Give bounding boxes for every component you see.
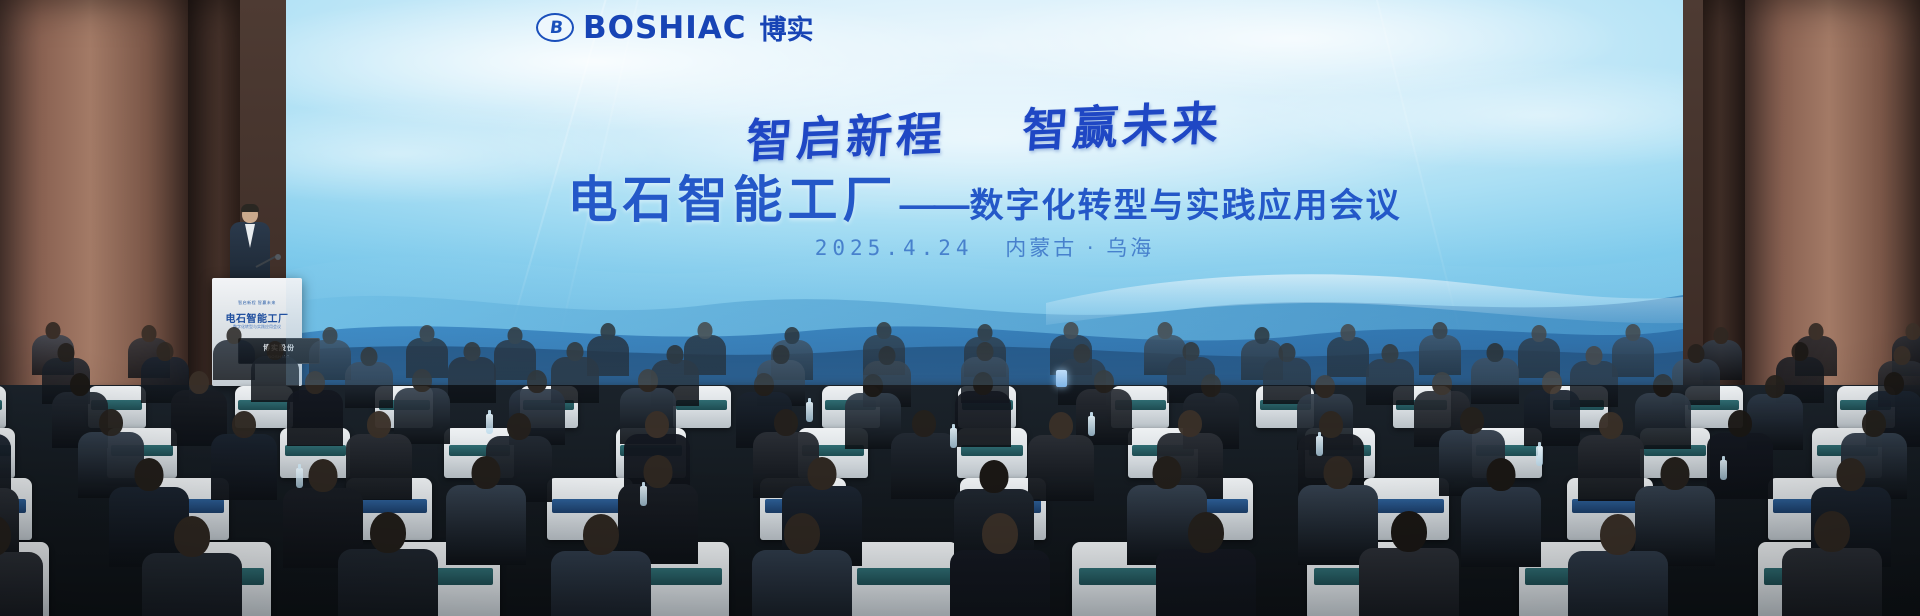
audience-member	[1359, 511, 1459, 616]
audience-member-head	[976, 342, 993, 361]
brand-wordmark: BOSHIAC	[583, 10, 747, 46]
audience-member-head	[420, 325, 435, 342]
audience-member-head	[46, 322, 61, 339]
audience-member-body	[287, 390, 343, 446]
audience-member	[955, 372, 1011, 451]
headline-subtitle: 数字化转型与实践应用会议	[970, 178, 1402, 227]
screen-headline: 电石智能工厂 —— 数字化转型与实践应用会议	[286, 160, 1683, 232]
audience-member-head	[863, 374, 883, 397]
audience-member-head	[1254, 327, 1269, 344]
audience-member-head	[697, 322, 712, 339]
audience-member-head	[266, 341, 283, 360]
audience-member-head	[1714, 327, 1729, 344]
audience-member-head	[1653, 374, 1673, 397]
audience-member-head	[305, 371, 325, 394]
audience-member-head	[1586, 346, 1603, 365]
water-bottle	[1088, 416, 1095, 436]
audience-member	[1524, 371, 1580, 450]
audience-member-body	[1568, 551, 1668, 616]
audience-member-body	[448, 357, 496, 403]
audience-member-head	[507, 327, 522, 344]
audience-member-head	[878, 346, 895, 365]
audience-member	[211, 411, 277, 504]
audience-member-head	[367, 411, 391, 438]
audience-member	[891, 410, 957, 503]
audience-member-body	[955, 391, 1011, 447]
audience-member-head	[583, 514, 619, 555]
audience-member-head	[360, 347, 377, 366]
audience-member-head	[174, 516, 210, 557]
audience-member-head	[1809, 323, 1824, 340]
water-bottle	[640, 486, 647, 506]
audience-member-head	[1188, 512, 1224, 553]
audience-member-head	[645, 411, 669, 438]
audience-member	[1471, 343, 1519, 408]
audience-member-head	[507, 413, 531, 440]
attendee-phone-screen	[1056, 370, 1067, 387]
audience-member-body	[1461, 487, 1541, 567]
headline-main: 电石智能工厂	[568, 160, 898, 232]
audience-member	[1156, 512, 1256, 616]
audience-member-body	[1471, 358, 1519, 404]
audience-member-head	[135, 458, 164, 491]
chair-sash	[0, 400, 2, 409]
audience-member	[345, 347, 393, 412]
audience-member-body	[1327, 337, 1369, 377]
audience-member	[446, 456, 526, 569]
audience-member	[752, 513, 852, 616]
audience-member	[1568, 514, 1668, 616]
audience-member-head	[141, 325, 156, 342]
audience-member-head	[1837, 458, 1866, 491]
audience-member-head	[1862, 410, 1886, 437]
water-bottle	[1536, 446, 1543, 466]
audience-member-head	[1625, 324, 1640, 341]
water-bottle	[1720, 460, 1727, 480]
audience-member-head	[1460, 407, 1484, 434]
audience-member-head	[189, 371, 209, 394]
audience-member-head	[973, 372, 993, 395]
audience-member	[448, 342, 496, 407]
audience-member-body	[1366, 359, 1414, 405]
conference-photo: B BOSHIAC 博实 智启新程 智赢未来 电石智能工厂 —— 数字化转型与实…	[0, 0, 1920, 616]
audience-member	[1707, 410, 1773, 503]
audience-member-body	[338, 549, 438, 616]
audience-member-head	[57, 343, 74, 362]
audience-member-head	[1765, 375, 1785, 398]
audience-member-head	[370, 512, 406, 553]
audience-member-body	[891, 433, 957, 499]
water-bottle	[296, 468, 303, 488]
mic-stem	[256, 256, 276, 268]
audience-member-head	[1687, 344, 1704, 363]
audience-member-body	[1707, 433, 1773, 499]
water-bottle	[1316, 436, 1323, 456]
audience-member-body	[142, 553, 242, 616]
banquet-chair	[850, 542, 958, 616]
audience-member-head	[322, 327, 337, 344]
audience-member	[0, 515, 43, 616]
audience-member-head	[309, 459, 338, 492]
audience-member-head	[1178, 410, 1202, 437]
audience-member	[1028, 412, 1094, 505]
audience-member	[287, 371, 343, 450]
audience-member-head	[774, 409, 798, 436]
audience-member-head	[1487, 343, 1504, 362]
audience-member-head	[1278, 343, 1295, 362]
audience-member-head	[1433, 322, 1448, 339]
audience-member-head	[1183, 342, 1200, 361]
podium-sign-top: 智启新程 智赢未来	[221, 300, 293, 306]
audience-member-head	[1391, 511, 1427, 552]
audience-member-head	[1542, 371, 1562, 394]
audience-member-body	[1782, 548, 1882, 616]
audience-member-body	[752, 550, 852, 616]
audience-member-body	[446, 485, 526, 565]
headline-dash: ——	[900, 184, 968, 226]
audience-member-head	[982, 513, 1018, 554]
audience-member-head	[772, 345, 789, 364]
audience-member-head	[232, 411, 256, 438]
water-bottle	[950, 428, 957, 448]
audience-member	[338, 512, 438, 616]
audience-member-head	[1660, 457, 1689, 490]
audience-member	[1461, 458, 1541, 571]
slogan-gap	[965, 147, 1001, 148]
audience-member-body	[1578, 435, 1644, 501]
speaker-hair	[241, 204, 259, 212]
audience-member-head	[980, 460, 1009, 493]
audience-member-body	[345, 362, 393, 408]
slogan-part-1: 智启新程	[745, 106, 948, 168]
audience-member-head	[1382, 344, 1399, 363]
audience-area	[0, 318, 1920, 616]
audience-member-body	[1524, 390, 1580, 446]
audience-member-head	[566, 342, 583, 361]
audience-member-head	[1323, 456, 1352, 489]
water-bottle	[806, 402, 813, 422]
audience-member-head	[1906, 323, 1920, 340]
audience-member-body	[1359, 548, 1459, 616]
chair-sash	[857, 568, 952, 585]
audience-member-head	[638, 369, 658, 392]
audience-member-head	[876, 322, 891, 339]
audience-member-body	[1419, 335, 1461, 375]
audience-member	[142, 516, 242, 616]
audience-member	[1327, 324, 1369, 381]
audience-member-body	[551, 551, 651, 616]
audience-member-head	[1064, 322, 1079, 339]
audience-member-head	[754, 373, 774, 396]
slogan-part-2: 智赢未来	[1020, 96, 1223, 158]
event-date: 2025.4.24	[815, 236, 974, 260]
screen-brand-logo: B BOSHIAC 博实	[536, 8, 814, 47]
audience-member-body	[0, 552, 43, 616]
audience-member-head	[1340, 324, 1355, 341]
audience-member-head	[912, 410, 936, 437]
water-bottle	[486, 414, 493, 434]
audience-member	[1419, 322, 1461, 379]
audience-member-head	[1094, 370, 1114, 393]
audience-member-head	[1073, 344, 1090, 363]
audience-member-body	[1156, 549, 1256, 616]
audience-member	[1782, 511, 1882, 616]
screen-footer: 2025.4.24 内蒙古 · 乌海	[286, 232, 1683, 262]
audience-member-head	[977, 324, 992, 341]
audience-member-head	[1893, 346, 1910, 365]
audience-member-head	[1432, 372, 1452, 395]
brand-wordmark-cn: 博实	[760, 8, 814, 47]
audience-member	[1578, 412, 1644, 505]
audience-member-head	[412, 369, 432, 392]
event-location: 内蒙古 · 乌海	[1005, 236, 1154, 260]
audience-member-head	[157, 342, 174, 361]
chair-sash	[552, 499, 628, 513]
audience-member-head	[666, 345, 683, 364]
boshiac-circle-logo-icon: B	[536, 13, 574, 42]
microphone-icon	[256, 250, 282, 272]
logo-glyph: B	[548, 18, 562, 38]
audience-member-head	[527, 370, 547, 393]
audience-member-head	[1319, 411, 1343, 438]
audience-member-head	[0, 515, 11, 556]
audience-member-head	[464, 342, 481, 361]
audience-member-head	[1814, 511, 1850, 552]
audience-member-head	[1157, 322, 1172, 339]
audience-member-body	[211, 434, 277, 500]
audience-member	[551, 514, 651, 616]
audience-member-head	[1792, 342, 1809, 361]
audience-member-head	[1201, 374, 1221, 397]
audience-member-head	[1532, 325, 1547, 342]
audience-member-head	[70, 373, 90, 396]
audience-member-head	[227, 327, 242, 344]
audience-member-head	[644, 455, 673, 488]
audience-member-head	[1315, 375, 1335, 398]
audience-member-head	[1728, 410, 1752, 437]
audience-member-head	[1600, 514, 1636, 555]
audience-member-head	[1599, 412, 1623, 439]
audience-member-head	[1153, 456, 1182, 489]
audience-member-head	[784, 513, 820, 554]
audience-member-body	[950, 550, 1050, 616]
audience-member-head	[785, 327, 800, 344]
audience-member-head	[1049, 412, 1073, 439]
audience-member-head	[807, 457, 836, 490]
audience-member	[1366, 344, 1414, 409]
audience-member-head	[1884, 372, 1904, 395]
audience-member-head	[601, 323, 616, 340]
mic-cap	[275, 254, 281, 260]
audience-member-head	[471, 456, 500, 489]
audience-member-body	[1028, 435, 1094, 501]
audience-member	[950, 513, 1050, 616]
audience-member-head	[99, 409, 123, 436]
audience-member-head	[1487, 458, 1516, 491]
